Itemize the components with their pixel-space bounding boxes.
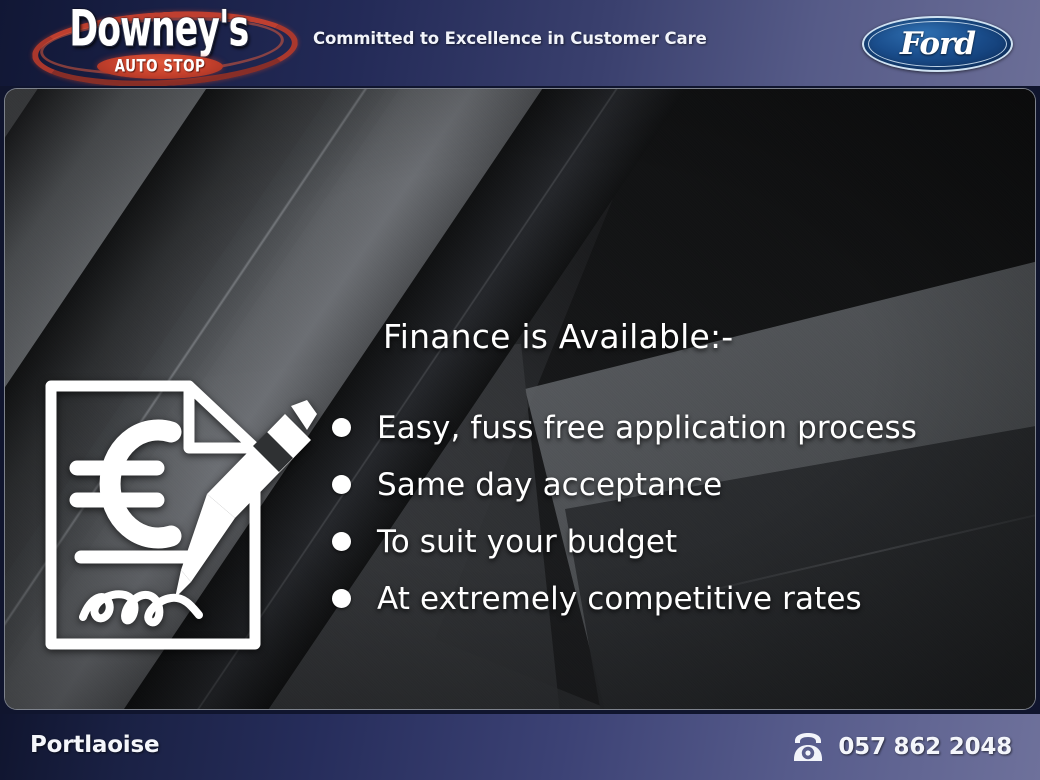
ford-logo-text: Ford bbox=[862, 16, 1013, 72]
bullet-dot-icon bbox=[332, 418, 351, 437]
list-item: Easy, fuss free application process bbox=[332, 399, 917, 456]
header-tagline: Committed to Excellence in Customer Care bbox=[313, 29, 707, 48]
main-panel: Finance is Available:- Easy, fuss free a… bbox=[4, 88, 1036, 710]
header-bar: Downey's AUTO STOP Committed to Excellen… bbox=[0, 0, 1040, 86]
feature-list: Easy, fuss free application process Same… bbox=[332, 399, 917, 627]
footer-bar: Portlaoise 057 862 2048 bbox=[0, 714, 1040, 780]
brand-sub-text: AUTO STOP bbox=[103, 53, 216, 81]
advert-banner: Downey's AUTO STOP Committed to Excellen… bbox=[0, 0, 1040, 780]
bullet-dot-icon bbox=[332, 589, 351, 608]
downeys-logo[interactable]: Downey's AUTO STOP bbox=[28, 4, 290, 84]
phone-number-label: 057 862 2048 bbox=[838, 734, 1012, 760]
list-item: To suit your budget bbox=[332, 513, 917, 570]
phone-contact[interactable]: 057 862 2048 bbox=[791, 733, 1012, 761]
brand-name-text: Downey's bbox=[52, 2, 267, 56]
location-label: Portlaoise bbox=[30, 732, 159, 758]
list-item: At extremely competitive rates bbox=[332, 570, 917, 627]
list-item: Same day acceptance bbox=[332, 456, 917, 513]
ford-logo[interactable]: Ford bbox=[862, 16, 1013, 72]
finance-document-euro-signature-icon bbox=[39, 370, 319, 660]
brand-sub-badge: AUTO STOP bbox=[97, 54, 223, 79]
bullet-dot-icon bbox=[332, 475, 351, 494]
bullet-dot-icon bbox=[332, 532, 351, 551]
list-item-label: Easy, fuss free application process bbox=[377, 410, 917, 446]
list-item-label: Same day acceptance bbox=[377, 467, 722, 503]
telephone-icon bbox=[791, 733, 825, 761]
list-item-label: At extremely competitive rates bbox=[377, 581, 862, 617]
page-title: Finance is Available:- bbox=[383, 317, 733, 356]
list-item-label: To suit your budget bbox=[377, 524, 677, 560]
